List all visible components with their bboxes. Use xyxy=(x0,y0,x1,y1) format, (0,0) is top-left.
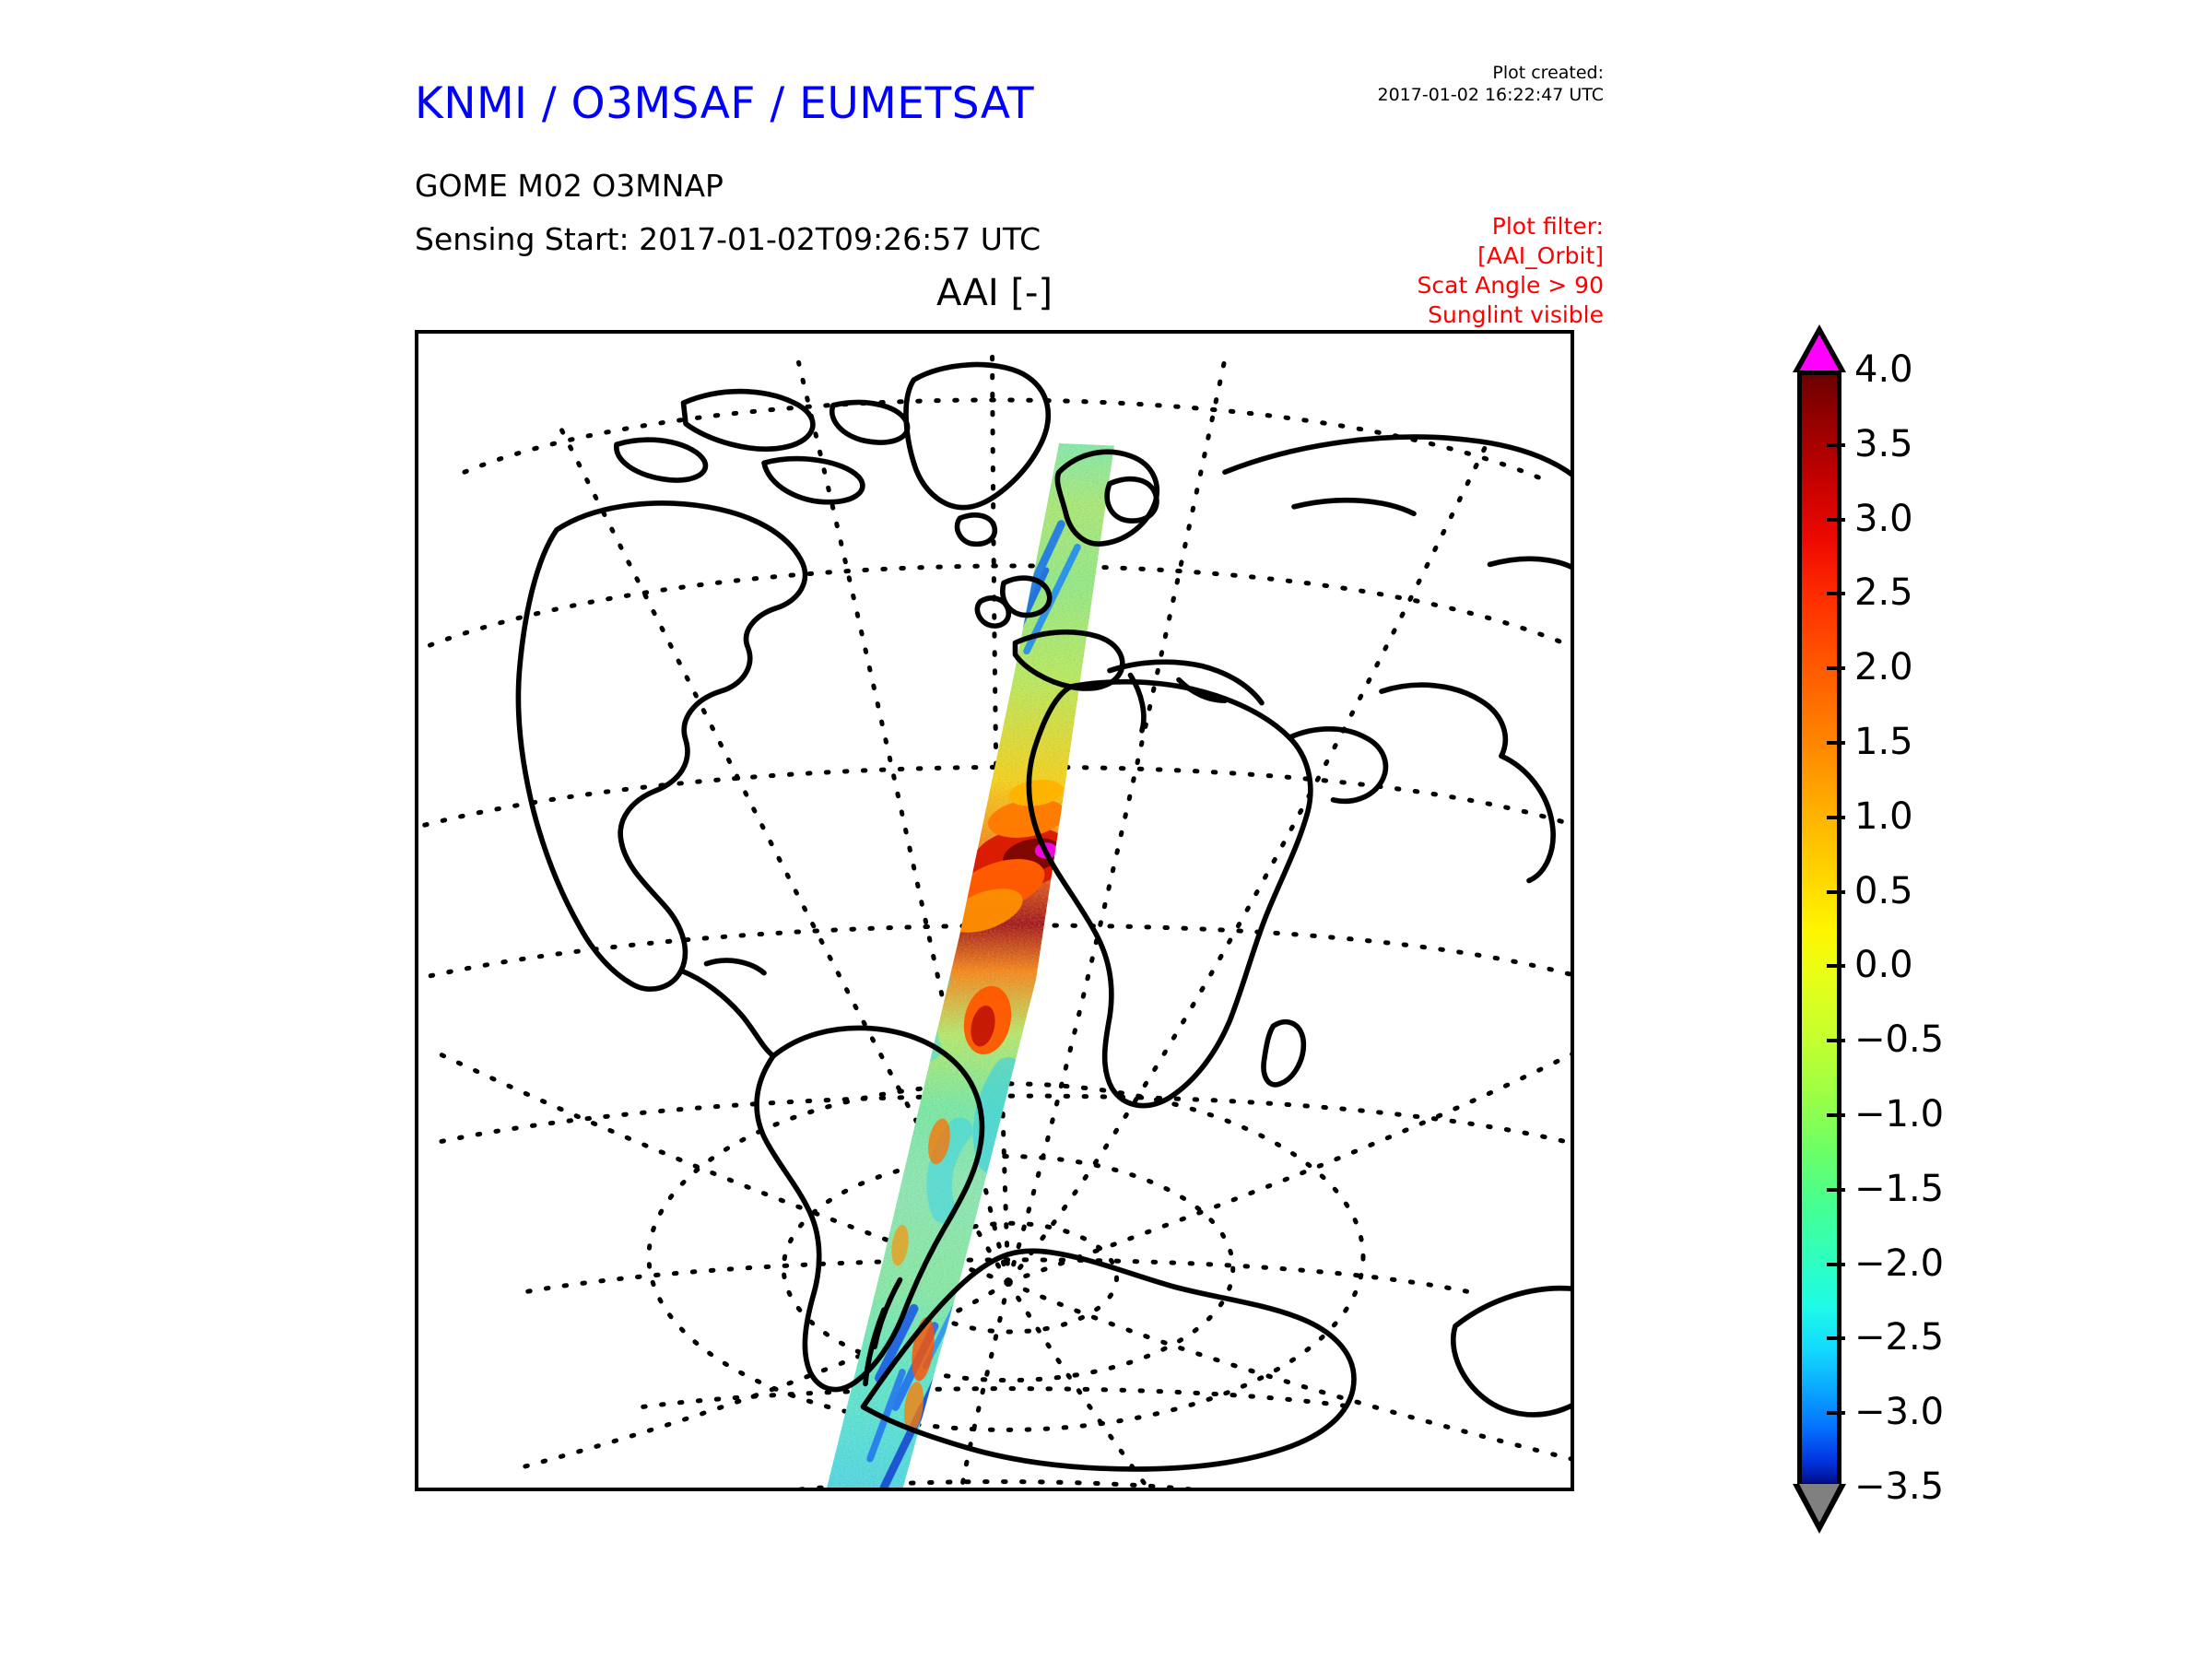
organisation-title: KNMI / O3MSAF / EUMETSAT xyxy=(415,78,1034,129)
product-name: GOME M02 O3MNAP xyxy=(415,168,724,204)
plot-title: AAI [-] xyxy=(415,272,1574,314)
plot-filter-line-0: [AAI_Orbit] xyxy=(1272,241,1604,271)
colorbar-tick-label: 0.5 xyxy=(1854,873,1913,910)
orthographic-map xyxy=(418,334,1571,1488)
colorbar: 4.03.53.02.52.01.51.00.50.0−0.5−1.0−1.5−… xyxy=(1792,324,2179,1495)
colorbar-tick xyxy=(1827,1113,1845,1117)
colorbar-tick xyxy=(1827,518,1845,522)
colorbar-under-color xyxy=(1799,1484,1840,1523)
colorbar-tick xyxy=(1827,1263,1845,1266)
colorbar-tick-label: 3.5 xyxy=(1854,426,1913,463)
colorbar-tick-label: −1.5 xyxy=(1854,1171,1944,1207)
colorbar-tick-label: 0.0 xyxy=(1854,947,1913,983)
colorbar-tick xyxy=(1827,1039,1845,1042)
colorbar-tick xyxy=(1827,741,1845,745)
colorbar-tick xyxy=(1827,1411,1845,1415)
colorbar-tick-label: 4.0 xyxy=(1854,351,1913,388)
colorbar-tick-label: 2.0 xyxy=(1854,649,1913,686)
sensing-start: Sensing Start: 2017-01-02T09:26:57 UTC xyxy=(415,221,1041,257)
colorbar-over-color xyxy=(1799,335,1840,371)
colorbar-tick-label: 2.5 xyxy=(1854,574,1913,611)
colorbar-tick xyxy=(1827,592,1845,595)
plot-created-block: Plot created: 2017-01-02 16:22:47 UTC xyxy=(1290,63,1604,107)
colorbar-tick xyxy=(1827,816,1845,819)
plot-filter-title: Plot filter: xyxy=(1272,212,1604,241)
map-plot-area xyxy=(415,330,1574,1491)
colorbar-tick-label: −3.5 xyxy=(1854,1468,1944,1505)
colorbar-tick xyxy=(1827,964,1845,968)
colorbar-tick-label: −0.5 xyxy=(1854,1021,1944,1058)
colorbar-tick-label: −2.5 xyxy=(1854,1319,1944,1356)
colorbar-tick-label: 3.0 xyxy=(1854,500,1913,537)
colorbar-tick xyxy=(1827,1336,1845,1340)
plot-created-value: 2017-01-02 16:22:47 UTC xyxy=(1290,85,1604,107)
colorbar-tick-label: −3.0 xyxy=(1854,1394,1944,1430)
colorbar-tick-label: 1.0 xyxy=(1854,798,1913,835)
plot-created-label: Plot created: xyxy=(1290,63,1604,85)
colorbar-gradient xyxy=(1797,371,1841,1488)
colorbar-tick-label: −2.0 xyxy=(1854,1245,1944,1282)
colorbar-tick xyxy=(1827,1188,1845,1192)
colorbar-tick xyxy=(1827,666,1845,670)
colorbar-tick xyxy=(1827,443,1845,447)
colorbar-tick xyxy=(1827,890,1845,894)
colorbar-tick-label: 1.5 xyxy=(1854,724,1913,760)
colorbar-tick-label: −1.0 xyxy=(1854,1096,1944,1133)
